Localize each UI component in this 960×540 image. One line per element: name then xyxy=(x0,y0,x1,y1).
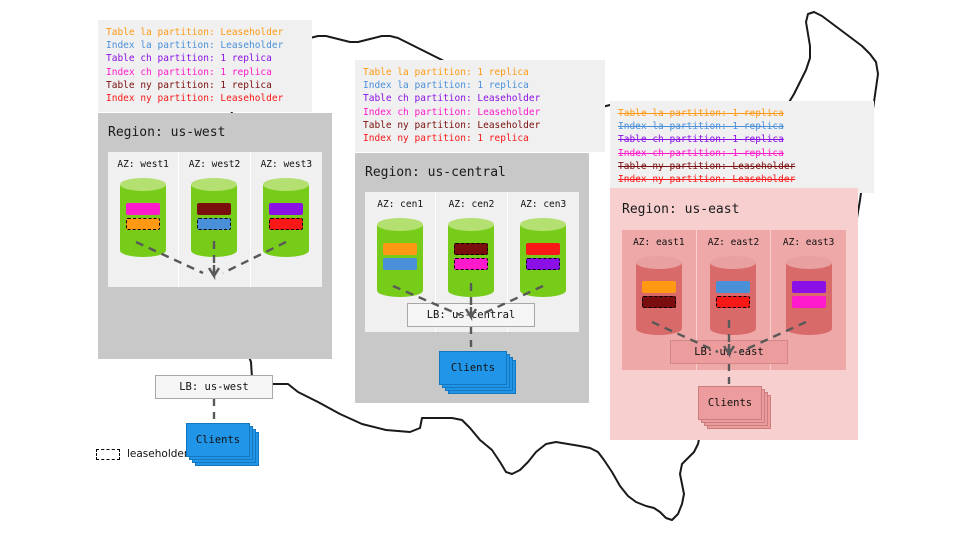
az-label: AZ: east2 xyxy=(708,237,759,248)
replica-bars xyxy=(454,243,488,270)
database-cylinder xyxy=(120,178,166,263)
az-label: AZ: west1 xyxy=(117,159,168,170)
az-label: AZ: east3 xyxy=(783,237,834,248)
load-balancer-us-west[interactable]: LB: us-west xyxy=(155,375,273,399)
replica-bar-index-ny-leaseholder xyxy=(269,218,303,230)
database-cylinder xyxy=(263,178,309,263)
replica-bars xyxy=(642,281,676,308)
partition-config-line: Index ch partition: 1 replica xyxy=(106,66,304,79)
az-cell-west2: AZ: west2 xyxy=(179,152,250,287)
az-cell-west1: AZ: west1 xyxy=(108,152,179,287)
replica-bar-table-ch xyxy=(792,281,826,293)
replica-bar-table-ny xyxy=(197,203,231,215)
cylinder-top xyxy=(786,256,832,269)
clients-label[interactable]: Clients xyxy=(439,351,507,385)
replica-bar-index-ny xyxy=(526,243,560,255)
az-label: AZ: cen3 xyxy=(520,199,566,210)
replica-bar-table-ch xyxy=(269,203,303,215)
partition-config-line: Table la partition: Leaseholder xyxy=(106,26,304,39)
partition-config-us-east: Table la partition: 1 replicaIndex la pa… xyxy=(610,101,874,193)
cylinder-top xyxy=(263,178,309,191)
region-title-us-west: Region: us-west xyxy=(108,125,225,140)
cylinder-top xyxy=(377,218,423,231)
database-cylinder xyxy=(710,256,756,341)
partition-config-line: Index ny partition: Leaseholder xyxy=(618,173,866,186)
cylinder-top xyxy=(636,256,682,269)
replica-bar-index-ch-leaseholder xyxy=(454,258,488,270)
clients-box-us-west[interactable]: Clients xyxy=(186,423,250,457)
replica-bar-index-la xyxy=(716,281,750,293)
replica-bars xyxy=(126,203,160,230)
az-label: AZ: west2 xyxy=(189,159,240,170)
replica-bars xyxy=(526,243,560,270)
partition-config-line: Index la partition: 1 replica xyxy=(363,79,597,92)
replica-bars xyxy=(269,203,303,230)
partition-config-line: Index la partition: Leaseholder xyxy=(106,39,304,52)
database-cylinder xyxy=(636,256,682,341)
region-title-us-east: Region: us-east xyxy=(622,202,739,217)
database-cylinder xyxy=(448,218,494,303)
clients-label[interactable]: Clients xyxy=(186,423,250,457)
replica-bar-index-ny-leaseholder xyxy=(716,296,750,308)
replica-bars xyxy=(383,243,417,270)
replica-bars xyxy=(716,281,750,308)
load-balancer-us-east[interactable]: LB: us-east xyxy=(670,340,788,364)
partition-config-line: Table la partition: 1 replica xyxy=(363,66,597,79)
replica-bar-table-la-leaseholder xyxy=(126,218,160,230)
region-box-us-east: Region: us-east AZ: east1AZ: east2AZ: ea… xyxy=(610,188,858,440)
cylinder-top xyxy=(520,218,566,231)
az-label: AZ: east1 xyxy=(633,237,684,248)
clients-label[interactable]: Clients xyxy=(698,386,762,420)
region-title-us-central: Region: us-central xyxy=(365,165,506,180)
database-cylinder xyxy=(377,218,423,303)
replica-bars xyxy=(197,203,231,230)
az-cell-west3: AZ: west3 xyxy=(251,152,322,287)
replica-bar-table-ny-leaseholder xyxy=(454,243,488,255)
partition-config-line: Table ny partition: Leaseholder xyxy=(618,160,866,173)
database-cylinder xyxy=(520,218,566,303)
az-label: AZ: cen1 xyxy=(377,199,423,210)
leaseholder-swatch-icon xyxy=(96,449,120,460)
replica-bar-index-la xyxy=(383,258,417,270)
partition-config-us-central: Table la partition: 1 replicaIndex la pa… xyxy=(355,60,605,152)
region-box-us-central: Region: us-central AZ: cen1AZ: cen2AZ: c… xyxy=(355,153,589,403)
replica-bar-table-la xyxy=(383,243,417,255)
cylinder-top xyxy=(120,178,166,191)
partition-config-line: Table ny partition: Leaseholder xyxy=(363,119,597,132)
database-cylinder xyxy=(786,256,832,341)
region-box-us-west: Region: us-west AZ: west1AZ: west2AZ: we… xyxy=(98,113,332,359)
partition-config-line: Table ch partition: Leaseholder xyxy=(363,92,597,105)
partition-config-line: Table ch partition: 1 replica xyxy=(106,52,304,65)
replica-bar-table-ch-leaseholder xyxy=(526,258,560,270)
clients-box-us-central[interactable]: Clients xyxy=(439,351,507,385)
partition-config-us-west: Table la partition: LeaseholderIndex la … xyxy=(98,20,312,112)
legend-leaseholder: leaseholder xyxy=(96,448,188,460)
partition-config-line: Index ch partition: Leaseholder xyxy=(363,106,597,119)
partition-config-line: Index la partition: 1 replica xyxy=(618,120,866,133)
replica-bar-table-ny-leaseholder xyxy=(642,296,676,308)
partition-config-line: Index ny partition: 1 replica xyxy=(363,132,597,145)
partition-config-line: Table ny partition: 1 replica xyxy=(106,79,304,92)
partition-config-line: Index ny partition: Leaseholder xyxy=(106,92,304,105)
partition-config-line: Table la partition: 1 replica xyxy=(618,107,866,120)
az-strip-us-west: AZ: west1AZ: west2AZ: west3 xyxy=(108,152,322,287)
replica-bar-table-la xyxy=(642,281,676,293)
az-label: AZ: cen2 xyxy=(449,199,495,210)
database-cylinder xyxy=(191,178,237,263)
partition-config-line: Table ch partition: 1 replica xyxy=(618,133,866,146)
replica-bar-index-ch xyxy=(126,203,160,215)
replica-bar-index-ch xyxy=(792,296,826,308)
replica-bar-index-la-leaseholder xyxy=(197,218,231,230)
load-balancer-us-central[interactable]: LB: us-central xyxy=(407,303,535,327)
clients-box-us-east[interactable]: Clients xyxy=(698,386,762,420)
az-label: AZ: west3 xyxy=(261,159,312,170)
replica-bars xyxy=(792,281,826,308)
legend-label: leaseholder xyxy=(127,448,188,460)
partition-config-line: Index ch partition: 1 replica xyxy=(618,147,866,160)
